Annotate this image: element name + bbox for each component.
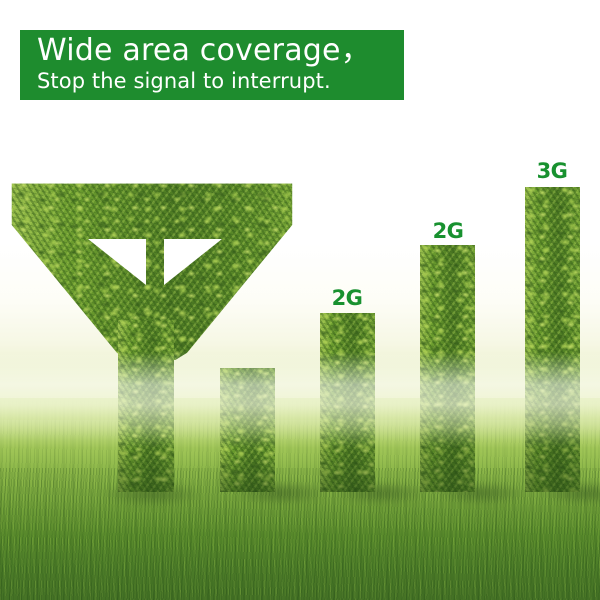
bar-label: 2G bbox=[418, 221, 478, 242]
headline-banner: Wide area coverage， Stop the signal to i… bbox=[20, 30, 404, 100]
bar-label: 2G bbox=[317, 288, 377, 309]
headline-secondary: Stop the signal to interrupt. bbox=[37, 68, 404, 95]
poster-canvas: 2G2G3G Wide area coverage， Stop the sign… bbox=[0, 0, 600, 600]
headline-primary: Wide area coverage， bbox=[37, 33, 404, 68]
signal-bar bbox=[525, 187, 580, 492]
tower-trunk bbox=[118, 320, 174, 492]
signal-bar bbox=[320, 313, 375, 492]
signal-tower-topiary bbox=[6, 180, 298, 492]
bar-label: 3G bbox=[522, 161, 582, 182]
signal-bar bbox=[420, 245, 475, 492]
